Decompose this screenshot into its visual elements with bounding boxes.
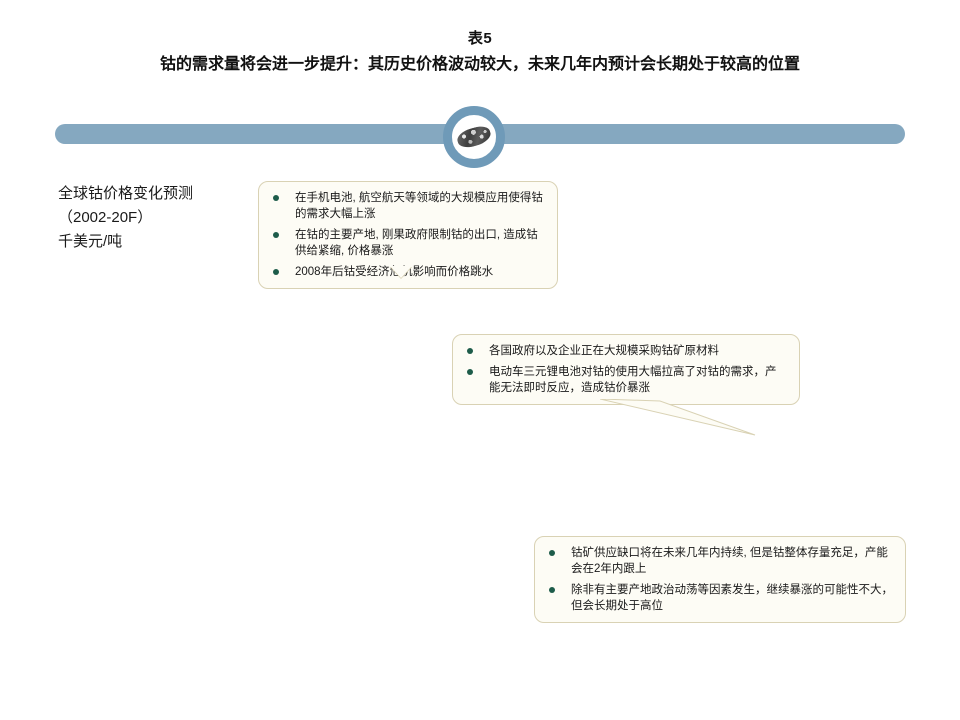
banner-circle — [443, 106, 505, 168]
callout-2-bullet-2: 电动车三元锂电池对钴的使用大幅拉高了对钴的需求，产能无法即时反应，造成钴价暴涨 — [463, 364, 787, 396]
callout-1-tail — [390, 266, 412, 278]
callout-3-list: 钴矿供应缺口将在未来几年内持续, 但是钴整体存量充足，产能会在2年内跟上 除非有… — [545, 545, 893, 614]
callout-2-bullet-1: 各国政府以及企业正在大规模采购钴矿原材料 — [463, 343, 787, 359]
callout-3-bullet-2: 除非有主要产地政治动荡等因素发生，继续暴涨的可能性不大，但会长期处于高位 — [545, 582, 893, 614]
title-text: 钴的需求量将会进一步提升：其历史价格波动较大，未来几年内预计会长期处于较高的位置 — [0, 52, 960, 78]
cobalt-ore-icon — [455, 124, 493, 151]
callout-box-2: 各国政府以及企业正在大规模采购钴矿原材料 电动车三元锂电池对钴的使用大幅拉高了对… — [452, 334, 800, 405]
chart-heading-line1: 全球钴价格变化预测 — [58, 182, 268, 206]
table-label: 表5 — [0, 28, 960, 50]
callout-3-bullet-1: 钴矿供应缺口将在未来几年内持续, 但是钴整体存量充足，产能会在2年内跟上 — [545, 545, 893, 577]
chart-heading-line2: （2002-20F） — [58, 206, 268, 230]
chart-heading-line3: 千美元/吨 — [58, 230, 268, 254]
chart-heading: 全球钴价格变化预测 （2002-20F） 千美元/吨 — [58, 182, 268, 254]
callout-2-tail — [600, 399, 760, 437]
callout-1-bullet-1: 在手机电池, 航空航天等领域的大规模应用使得钴的需求大幅上涨 — [269, 190, 545, 222]
callout-box-3: 钴矿供应缺口将在未来几年内持续, 但是钴整体存量充足，产能会在2年内跟上 除非有… — [534, 536, 906, 623]
callout-2-list: 各国政府以及企业正在大规模采购钴矿原材料 电动车三元锂电池对钴的使用大幅拉高了对… — [463, 343, 787, 396]
page-title: 表5 钴的需求量将会进一步提升：其历史价格波动较大，未来几年内预计会长期处于较高… — [0, 28, 960, 78]
slide-page: 表5 钴的需求量将会进一步提升：其历史价格波动较大，未来几年内预计会长期处于较高… — [0, 0, 960, 720]
callout-1-bullet-2: 在钴的主要产地, 刚果政府限制钴的出口, 造成钴供给紧缩, 价格暴涨 — [269, 227, 545, 259]
